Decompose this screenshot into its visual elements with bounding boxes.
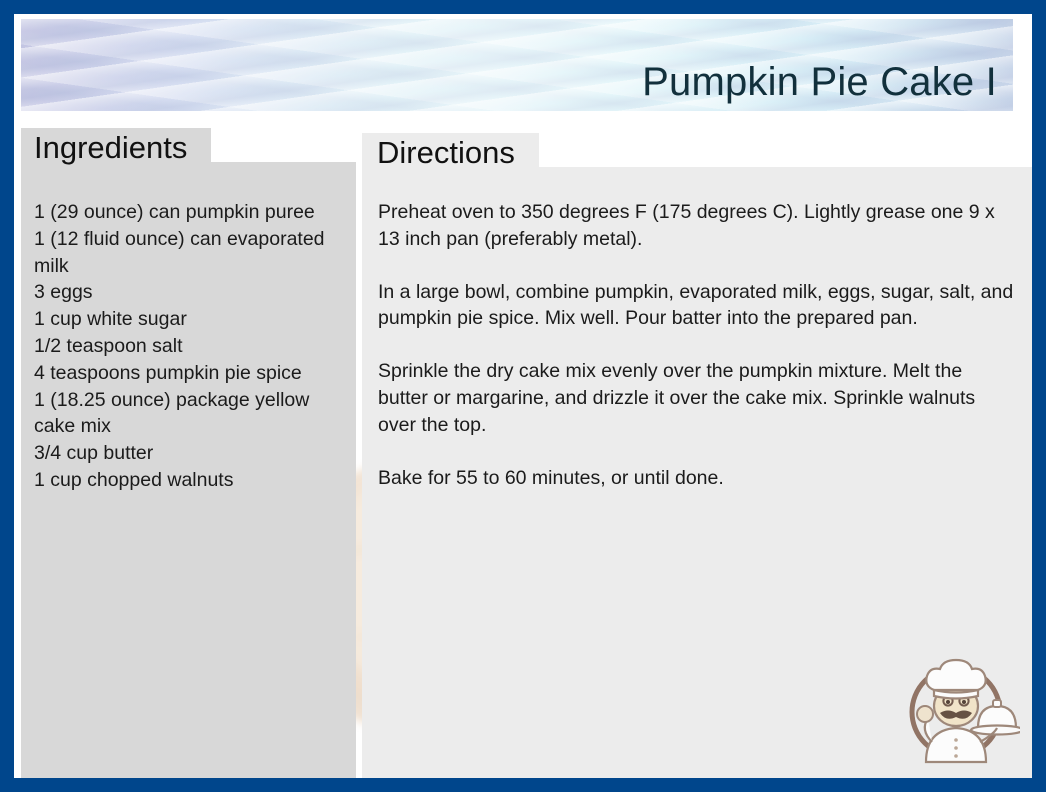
list-item: 3/4 cup butter [34,440,346,467]
list-item: 1/2 teaspoon salt [34,333,346,360]
direction-step: Preheat oven to 350 degrees F (175 degre… [378,199,1014,253]
list-item: 1 (29 ounce) can pumpkin puree [34,199,346,226]
page-title: Pumpkin Pie Cake I [642,60,997,105]
list-item: 1 cup white sugar [34,306,346,333]
directions-steps: Preheat oven to 350 degrees F (175 degre… [378,199,1014,491]
list-item: 1 (18.25 ounce) package yellow cake mix [34,387,346,441]
directions-heading: Directions [377,135,515,171]
ingredients-list: 1 (29 ounce) can pumpkin puree 1 (12 flu… [34,199,346,494]
header-banner: Pumpkin Pie Cake I [21,19,1013,111]
direction-step: Bake for 55 to 60 minutes, or until done… [378,465,1014,492]
direction-step: Sprinkle the dry cake mix evenly over th… [378,358,1014,438]
ingredients-tab-notch [211,128,356,162]
direction-step: In a large bowl, combine pumpkin, evapor… [378,279,1014,333]
list-item: 3 eggs [34,279,346,306]
list-item: 4 teaspoons pumpkin pie spice [34,360,346,387]
directions-panel: Directions Preheat oven to 350 degrees F… [362,133,1032,778]
directions-tab-notch [539,133,1032,167]
ingredients-panel: Ingredients 1 (29 ounce) can pumpkin pur… [21,128,356,778]
recipe-card: Pumpkin Pie Cake I [0,0,1046,792]
list-item: 1 (12 fluid ounce) can evaporated milk [34,226,346,280]
list-item: 1 cup chopped walnuts [34,467,346,494]
ingredients-heading: Ingredients [34,130,187,166]
